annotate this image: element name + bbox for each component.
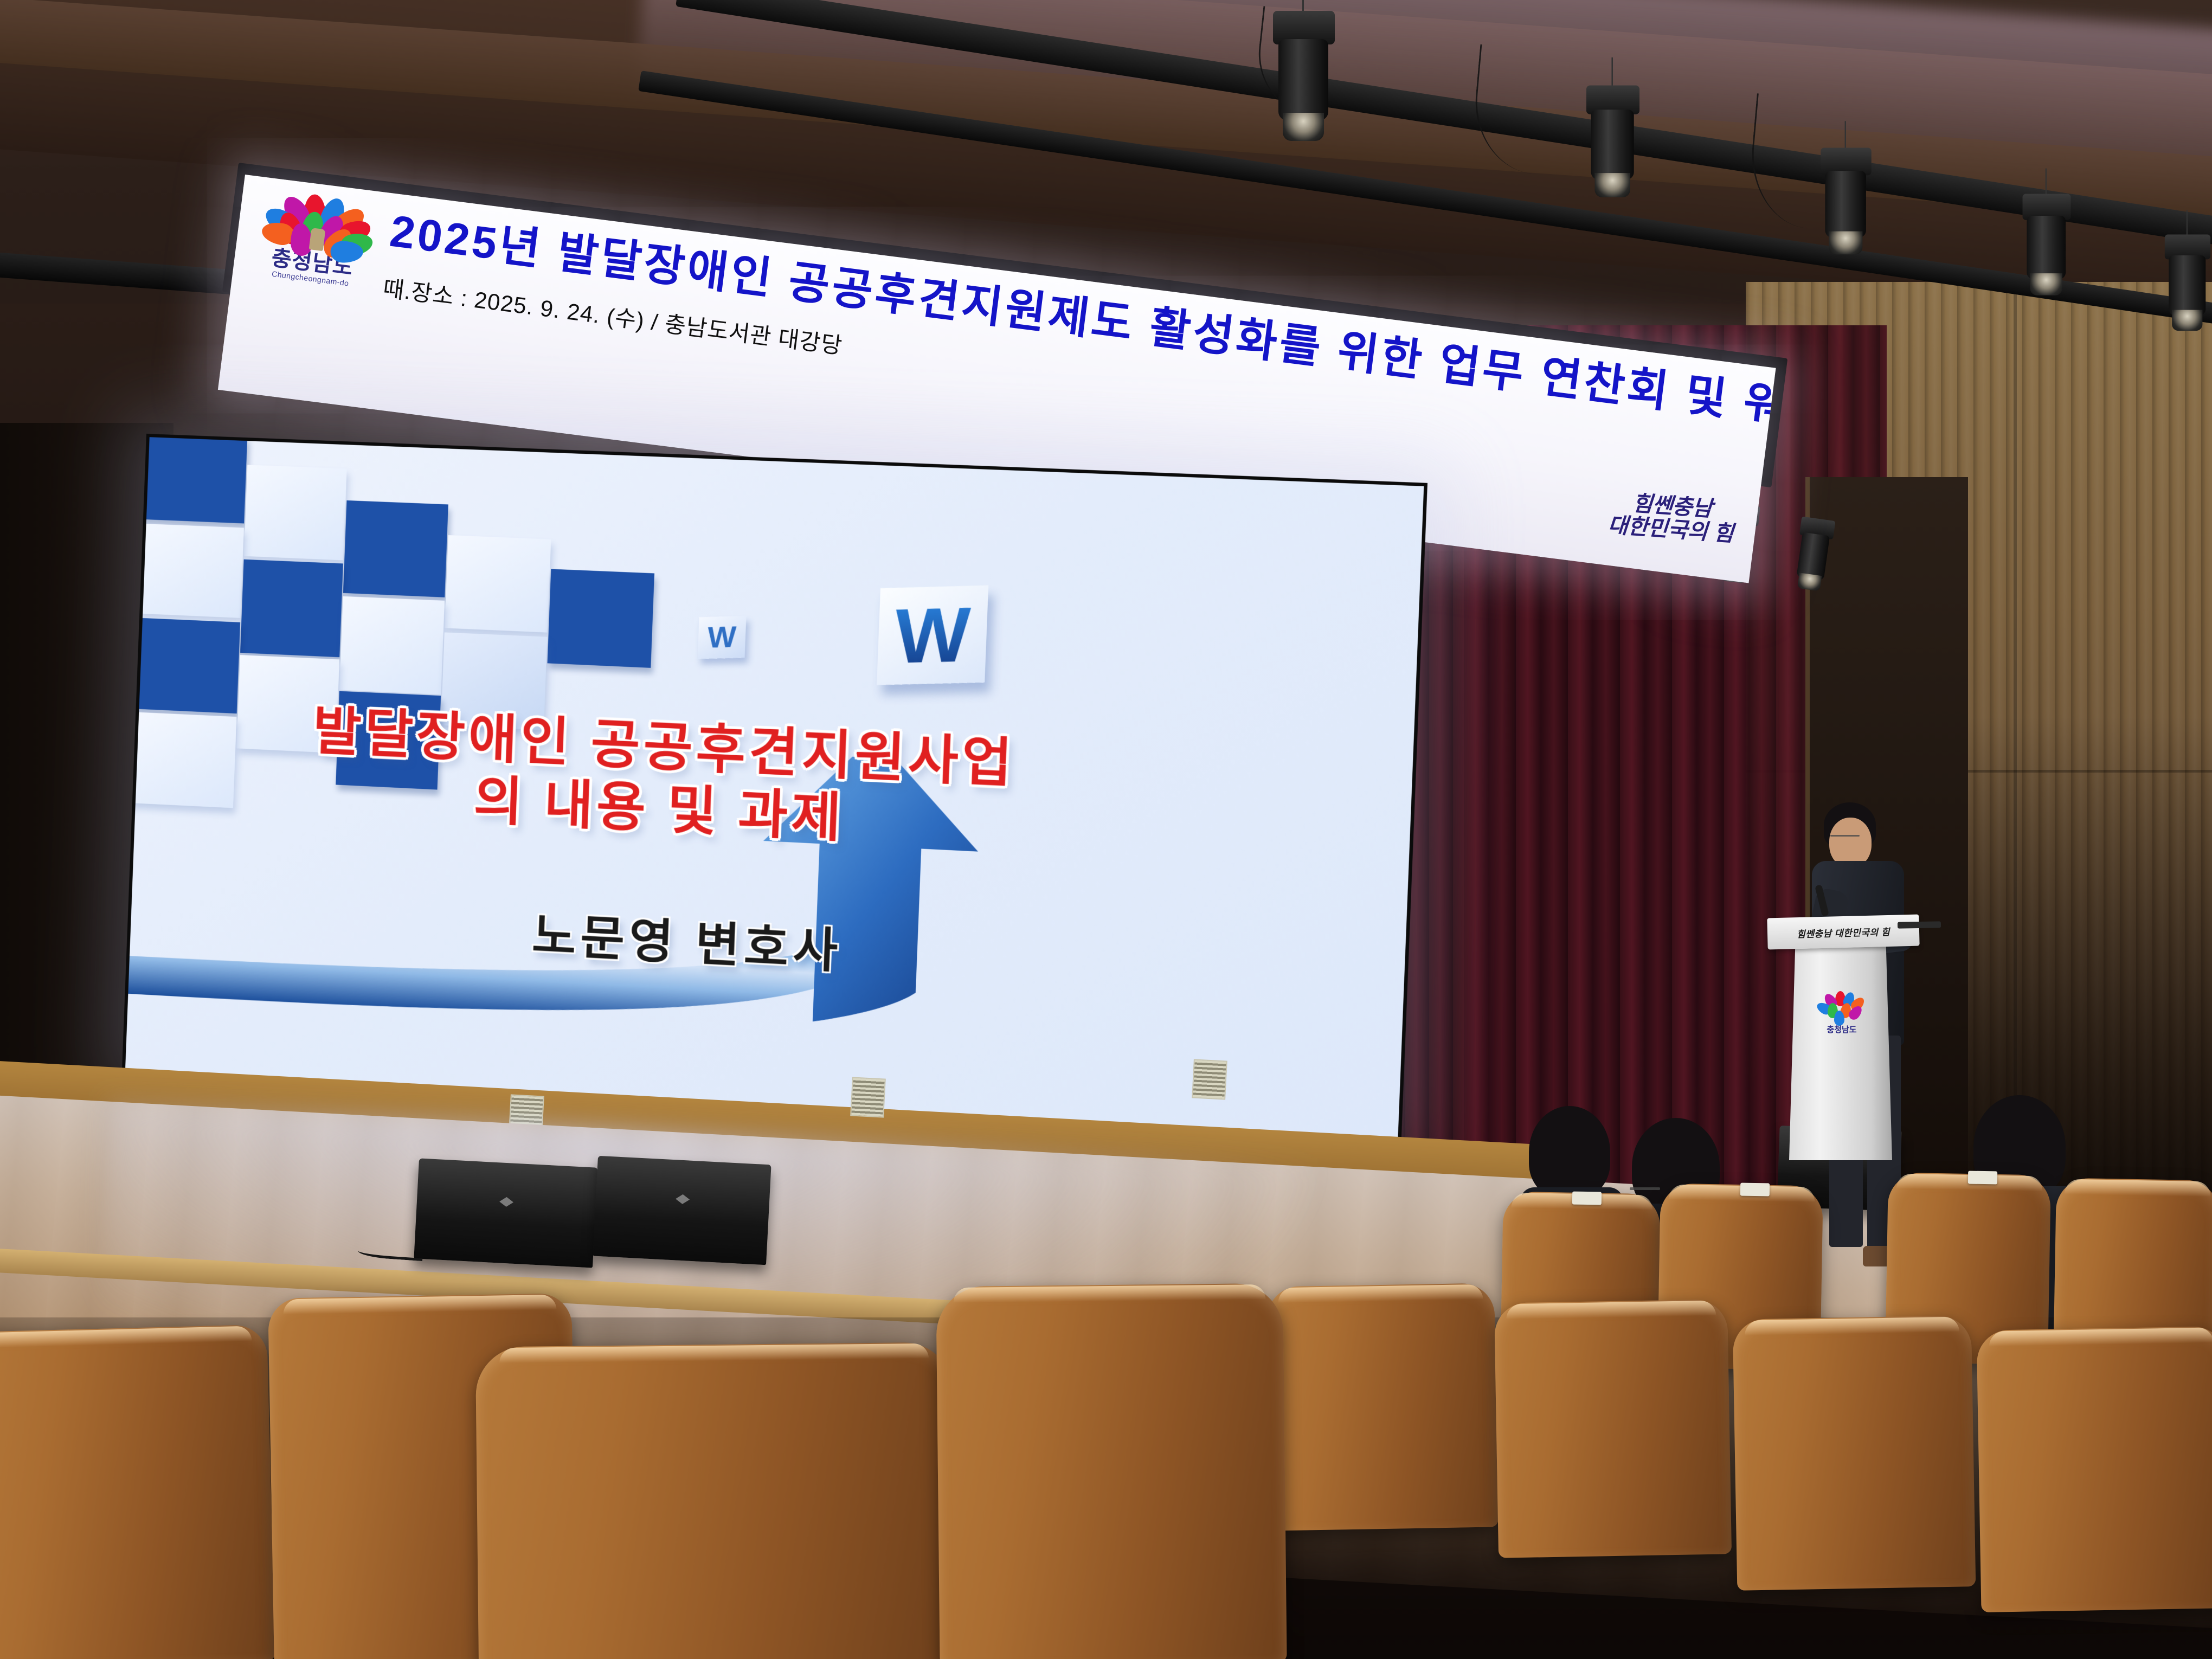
seat-highlight	[1278, 1284, 1483, 1303]
seat-back-foreground	[936, 1283, 1287, 1659]
banner-logo-block: 충청남도 Chungcheongnam-do	[247, 184, 384, 291]
slide-square	[134, 618, 241, 714]
light-body	[2027, 216, 2066, 279]
seat-back	[1733, 1315, 1976, 1591]
podium-top-plate: 힘쎈충남 대한민국의 힘	[1767, 915, 1919, 950]
light-hanger	[1611, 57, 1613, 88]
light-hanger	[2046, 169, 2047, 196]
slide-square	[343, 500, 448, 597]
seat-number-tag	[1740, 1183, 1770, 1197]
stage-light-fixture	[1813, 148, 1880, 259]
stage-light-fixture	[1578, 86, 1648, 202]
seat-back	[1494, 1299, 1732, 1558]
speaker-handle	[676, 1194, 690, 1204]
seat-highlight	[1989, 1327, 2212, 1346]
slide-title: 발달장애인 공공후견지원사업 의 내용 및 과제	[243, 697, 1085, 861]
podium	[1789, 943, 1892, 1160]
podium-emblem-label: 충청남도	[1817, 1024, 1866, 1035]
auditorium-photo: 충청남도 Chungcheongnam-do 2025년 발달장애인 공공후견지…	[0, 0, 2212, 1659]
podium-sign-text: 힘쎈충남 대한민국의 힘	[1767, 915, 1919, 950]
light-body	[1825, 171, 1866, 237]
seat-number-tag	[1968, 1171, 1997, 1185]
audience-hair	[1529, 1106, 1610, 1198]
floor-monitor-speaker	[414, 1158, 597, 1268]
slide-square	[137, 524, 244, 618]
slide-presenter-name: 노문영 변호사	[480, 894, 896, 985]
presentation-slide: W W	[125, 437, 1424, 1142]
light-body	[1278, 39, 1328, 120]
emblem-stem	[308, 228, 325, 251]
light-lens	[2030, 273, 2062, 295]
seat-highlight	[953, 1284, 1265, 1303]
stage-light-fixture	[2015, 194, 2079, 300]
light-lens	[1829, 232, 1862, 255]
slide-square	[445, 535, 551, 633]
stage-vent-grille	[1192, 1059, 1227, 1099]
banner-slogan: 힘쎈충남 대한민국의 힘	[1607, 490, 1737, 546]
seat-back-foreground	[475, 1342, 956, 1659]
speaker-handle	[499, 1197, 514, 1207]
light-hanger	[2187, 210, 2188, 237]
slide-w-block-large: W	[877, 586, 988, 685]
podium-mic-rail	[1898, 921, 1941, 928]
seat-highlight	[1506, 1301, 1715, 1320]
seat-highlight	[499, 1343, 929, 1363]
slide-square	[244, 465, 347, 560]
podium-emblem-icon	[1819, 991, 1864, 1025]
slide-square	[130, 712, 237, 808]
presenter-head	[1829, 818, 1872, 867]
light-body	[1591, 110, 1634, 179]
light-lens	[1797, 573, 1822, 591]
light-lens	[1283, 113, 1324, 141]
slide-square	[141, 437, 247, 523]
slide-w-large-glyph: W	[893, 595, 972, 675]
light-hanger	[1845, 121, 1846, 150]
stage-light-fixture	[1263, 11, 1345, 146]
seat-highlight	[2065, 1179, 2211, 1197]
light-lens	[2172, 310, 2202, 331]
seat-back	[1976, 1326, 2212, 1612]
led-screen: W W	[122, 434, 1427, 1146]
seat-number-tag	[1572, 1192, 1602, 1205]
light-lens	[1594, 173, 1630, 197]
light-body	[2169, 255, 2205, 316]
audience-glasses-icon	[1630, 1187, 1660, 1190]
presenter-glasses-icon	[1830, 835, 1860, 837]
stage-vent-grille	[850, 1077, 886, 1117]
slide-square	[339, 596, 445, 695]
stage-light-fixture	[2158, 235, 2212, 335]
slide-w-block-small: W	[698, 616, 747, 659]
chungnam-flower-emblem-icon	[266, 189, 370, 258]
seat-back	[1266, 1283, 1499, 1531]
seat-highlight	[283, 1295, 556, 1315]
floor-monitor-speaker	[593, 1156, 771, 1265]
slide-square	[240, 560, 343, 658]
slide-square	[548, 569, 655, 667]
slide-w-small-glyph: W	[707, 622, 737, 653]
seat-highlight	[1745, 1317, 1959, 1336]
seat-back-foreground	[0, 1324, 275, 1659]
